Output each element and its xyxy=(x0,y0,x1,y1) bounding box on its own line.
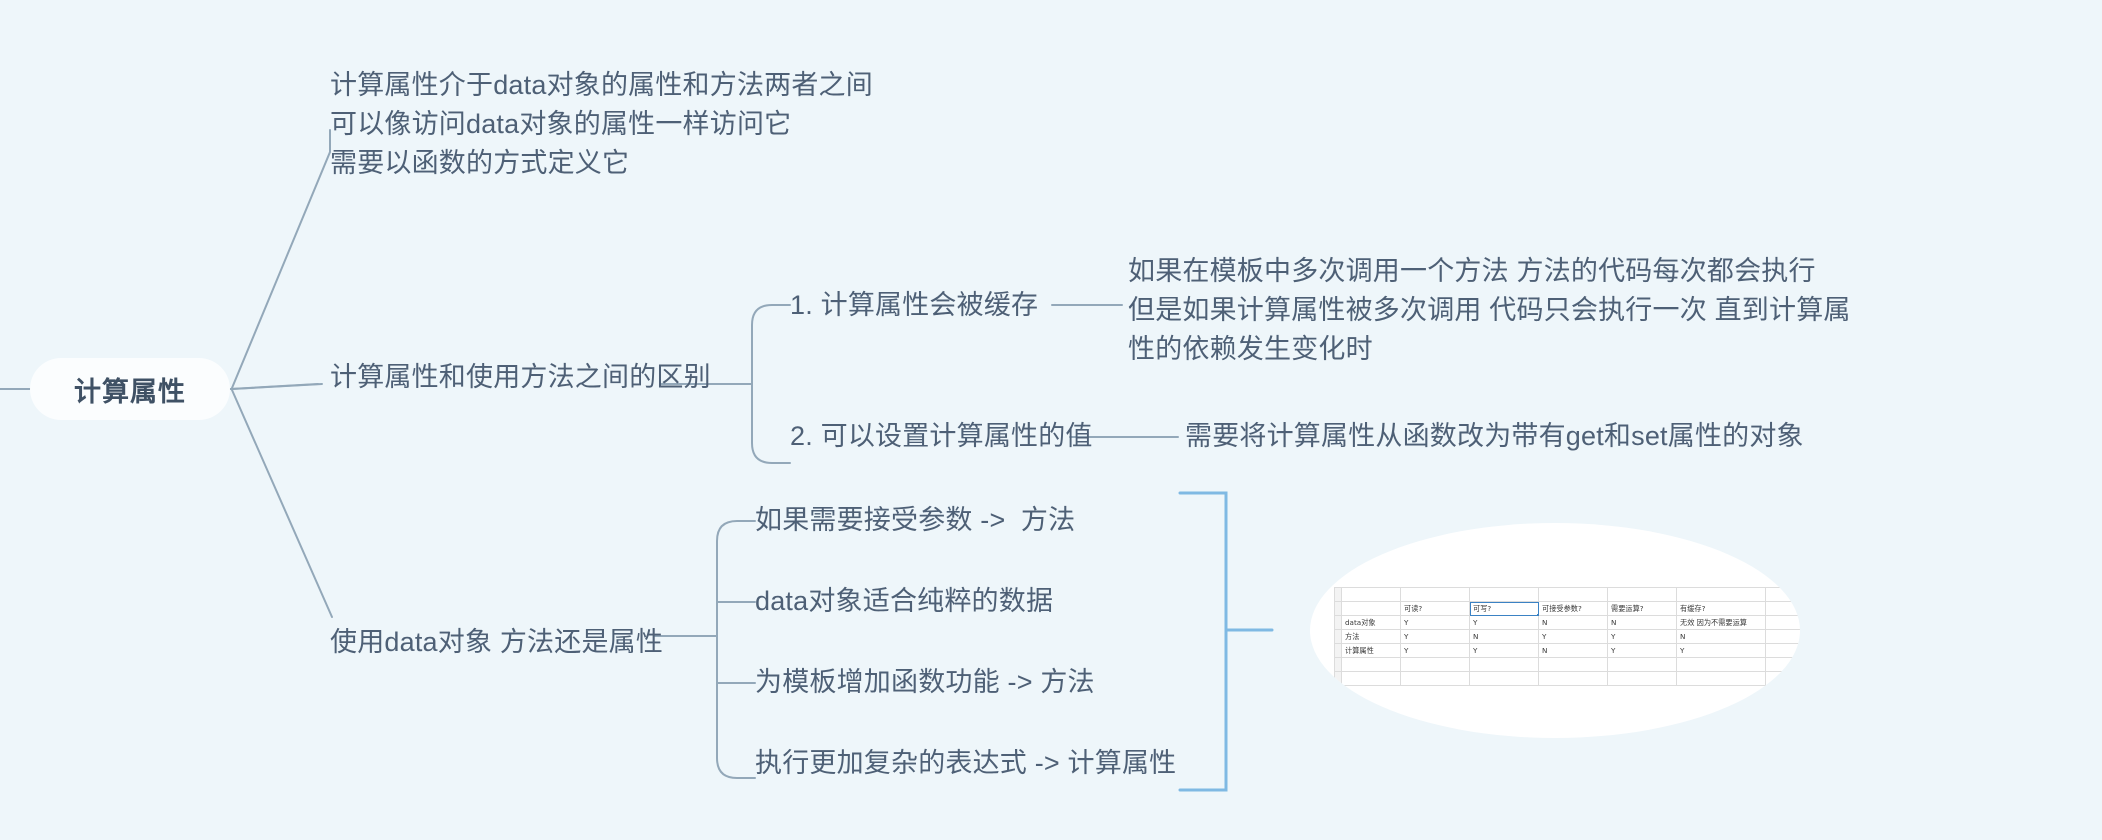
node-intro[interactable]: 计算属性介于data对象的属性和方法两者之间 可以像访问data对象的属性一样访… xyxy=(330,66,873,183)
row-gutter xyxy=(1335,616,1342,630)
node-difference[interactable]: 计算属性和使用方法之间的区别 xyxy=(330,358,711,397)
row-gutter xyxy=(1335,672,1342,686)
table-header-cell[interactable]: 可接受参数? xyxy=(1539,602,1608,616)
table-cell[interactable]: 无效 因为不需要运算 xyxy=(1677,616,1766,630)
node-can-set-value-detail[interactable]: 需要将计算属性从函数改为带有get和set属性的对象 xyxy=(1185,417,1804,456)
node-needs-params[interactable]: 如果需要接受参数 -> 方法 xyxy=(755,501,1075,540)
table-header-cell-selected[interactable]: 可写? xyxy=(1470,602,1539,616)
table-cell[interactable]: N xyxy=(1539,616,1608,630)
table-header-cell[interactable] xyxy=(1342,602,1401,616)
attached-image-node[interactable]: 可读? 可写? 可接受参数? 需要运算? 有缓存? data对象 Y Y N N… xyxy=(1310,523,1800,738)
table-cell[interactable]: Y xyxy=(1608,644,1677,658)
node-computed-is-cached[interactable]: 1. 计算属性会被缓存 xyxy=(790,286,1038,325)
mindmap-canvas: 计算属性 计算属性介于data对象的属性和方法两者之间 可以像访问data对象的… xyxy=(0,0,2102,840)
table-cell[interactable]: N xyxy=(1539,644,1608,658)
table-cell[interactable]: Y xyxy=(1608,630,1677,644)
node-use-data-or-method[interactable]: 使用data对象 方法还是属性 xyxy=(330,623,663,662)
table-empty-row xyxy=(1335,658,1801,672)
row-gutter xyxy=(1335,644,1342,658)
table-cell[interactable]: N xyxy=(1677,630,1766,644)
row-gutter xyxy=(1335,602,1342,616)
root-node-label: 计算属性 xyxy=(74,370,186,409)
table-cell[interactable]: Y xyxy=(1470,644,1539,658)
table-cell[interactable]: Y xyxy=(1677,644,1766,658)
table-header-cell[interactable]: 需要运算? xyxy=(1608,602,1677,616)
table-row: 计算属性 Y Y N Y Y xyxy=(1335,644,1801,658)
table-row-label[interactable]: data对象 xyxy=(1342,616,1401,630)
table-cell[interactable]: Y xyxy=(1401,644,1470,658)
row-gutter xyxy=(1335,588,1342,602)
table-row: data对象 Y Y N N 无效 因为不需要运算 xyxy=(1335,616,1801,630)
table-row-label[interactable]: 方法 xyxy=(1342,630,1401,644)
table-cell[interactable]: Y xyxy=(1401,616,1470,630)
table-header-row: 可读? 可写? 可接受参数? 需要运算? 有缓存? xyxy=(1335,602,1801,616)
table-cell[interactable]: N xyxy=(1608,616,1677,630)
node-template-function[interactable]: 为模板增加函数功能 -> 方法 xyxy=(755,663,1095,702)
table-row-label[interactable]: 计算属性 xyxy=(1342,644,1401,658)
node-computed-is-cached-detail[interactable]: 如果在模板中多次调用一个方法 方法的代码每次都会执行 但是如果计算属性被多次调用… xyxy=(1128,252,1851,369)
table-cell[interactable]: Y xyxy=(1470,616,1539,630)
table-header-cell[interactable]: 有缓存? xyxy=(1677,602,1766,616)
table-empty-row xyxy=(1335,672,1801,686)
node-pure-data[interactable]: data对象适合纯粹的数据 xyxy=(755,582,1053,621)
row-gutter xyxy=(1335,630,1342,644)
table-cell[interactable]: Y xyxy=(1539,630,1608,644)
table-row: 方法 Y N Y Y N xyxy=(1335,630,1801,644)
node-complex-expression[interactable]: 执行更加复杂的表达式 -> 计算属性 xyxy=(755,744,1176,783)
table-spacer-row xyxy=(1335,588,1801,602)
node-can-set-value[interactable]: 2. 可以设置计算属性的值 xyxy=(790,417,1093,456)
table-cell[interactable]: Y xyxy=(1401,630,1470,644)
comparison-table: 可读? 可写? 可接受参数? 需要运算? 有缓存? data对象 Y Y N N… xyxy=(1334,587,1800,686)
table-header-cell[interactable]: 可读? xyxy=(1401,602,1470,616)
table-cell[interactable]: N xyxy=(1470,630,1539,644)
row-gutter xyxy=(1335,658,1342,672)
root-node[interactable]: 计算属性 xyxy=(30,358,230,420)
spreadsheet-screenshot: 可读? 可写? 可接受参数? 需要运算? 有缓存? data对象 Y Y N N… xyxy=(1334,587,1754,673)
